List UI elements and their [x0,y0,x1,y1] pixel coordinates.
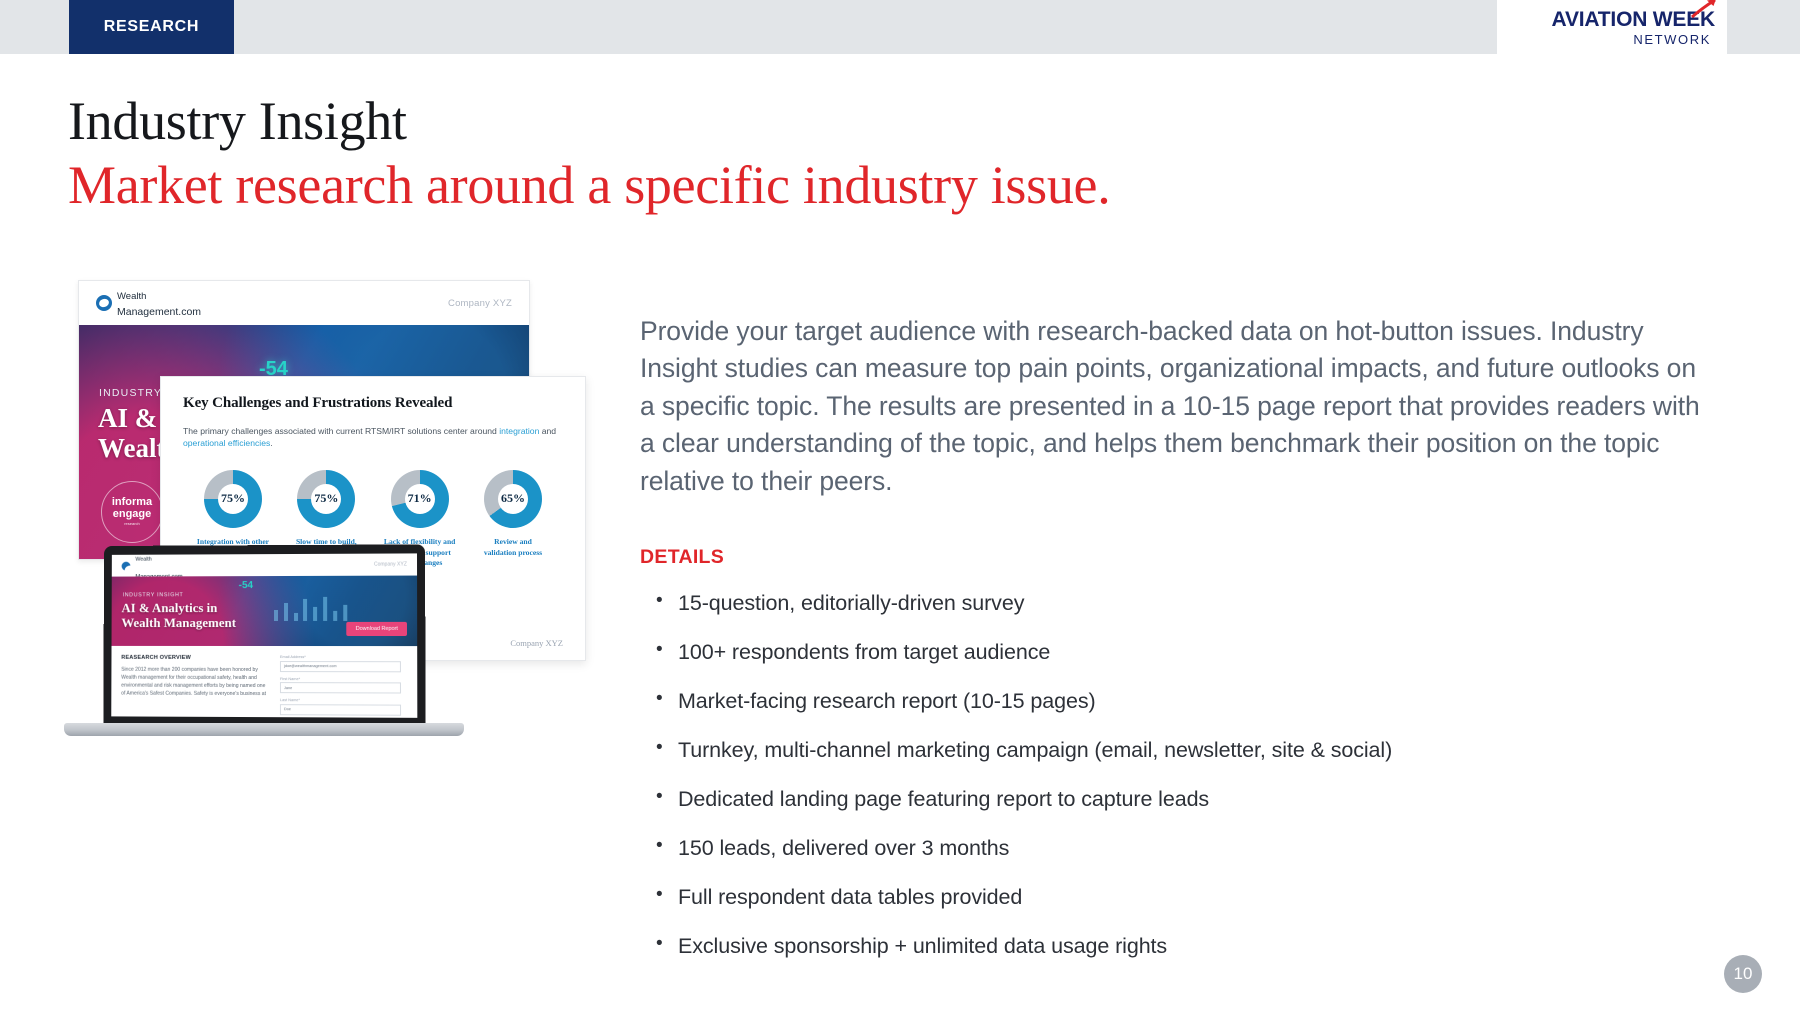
wealthmanagement-logo-line2: Management.com [117,306,201,318]
landing-page-header: Wealth Management.com Company XYZ [112,553,417,576]
lead-capture-form[interactable]: Email Address*jdoe@wealthmanagement.comF… [280,655,401,718]
donut-caption: Review andvalidation process [467,537,559,558]
section-tab-label: RESEARCH [104,18,199,36]
wealthmanagement-logo-line1: Wealth [117,291,146,302]
form-field-input[interactable]: Jane [280,682,401,693]
informa-engage-badge: informa engage research [101,481,163,543]
page-title-primary: Industry Insight [68,92,1110,150]
donut-center: 65% [498,484,528,514]
form-field-input[interactable]: jdoe@wealthmanagement.com [280,661,401,672]
research-overview-text: Since 2012 more than 200 companies have … [121,667,270,699]
landing-hero-ticker-number: -54 [239,580,253,591]
informa-engage-line3: research [124,522,140,526]
details-bullet-item: Full respondent data tables provided [640,885,1700,910]
key-challenges-subtitle-part-a: The primary challenges associated with c… [183,426,499,436]
research-overview-block: REASEARCH OVERVIEW Since 2012 more than … [121,655,270,718]
key-challenges-title: Key Challenges and Frustrations Revealed [183,395,563,412]
landing-company-label: Company XYZ [374,561,407,567]
details-bullet-item: Dedicated landing page featuring report … [640,787,1700,812]
key-challenges-subtitle-highlight-1: integration [499,426,539,436]
landing-hero-title-line1: AI & Analytics in [121,600,217,615]
details-heading: DETAILS [640,546,1700,569]
donut-ring: 65% [484,470,542,528]
report-cover-company: Company XYZ [448,298,512,309]
form-field-label: Last Name* [280,698,401,702]
brand-logo-wordmark: AVIATION WEEK [1552,9,1715,30]
download-report-button[interactable]: Download Report [347,622,407,636]
donut-ring: 75% [204,470,262,528]
content-column: Provide your target audience with resear… [640,286,1700,983]
landing-wealthmanagement-mark-icon [122,561,131,570]
donut-value-label: 71% [408,491,432,506]
donut-value-label: 75% [221,491,245,506]
details-bullet-list: 15-question, editorially-driven survey10… [640,591,1700,959]
donut-ring: 75% [297,470,355,528]
landing-hero-kicker: INDUSTRY INSIGHT [122,592,183,598]
landing-hero-bars-icon [269,596,392,621]
product-artwork: Wealth Management.com Company XYZ -54 IN… [60,250,620,890]
details-bullet-item: Market-facing research report (10-15 pag… [640,689,1700,714]
form-field-label: Email Address* [280,655,401,659]
donut-center: 71% [405,484,435,514]
intro-paragraph: Provide your target audience with resear… [640,313,1700,501]
donut-value-label: 75% [314,491,338,506]
donut-ring: 71% [391,470,449,528]
landing-logo-line1: Wealth [135,557,151,563]
landing-hero: -54 INDUSTRY INSIGHT AI & Analytics in W… [112,576,418,647]
section-tab-research[interactable]: RESEARCH [69,0,234,54]
laptop-base [64,723,464,736]
details-bullet-item: 100+ respondents from target audience [640,640,1700,665]
laptop-mockup: Wealth Management.com Company XYZ -54 IN [64,545,464,760]
key-challenges-subtitle-part-c: . [270,438,272,448]
landing-hero-title-line2: Wealth Management [121,615,236,630]
page-title-secondary: Market research around a specific indust… [68,156,1110,214]
laptop-screen: Wealth Management.com Company XYZ -54 IN [111,553,417,717]
brand-logo: AVIATION WEEK NETWORK [1497,0,1727,54]
informa-engage-line2: engage [113,509,152,521]
research-overview-title: REASEARCH OVERVIEW [121,655,270,661]
details-bullet-item: 150 leads, delivered over 3 months [640,836,1700,861]
laptop-bezel: Wealth Management.com Company XYZ -54 IN [103,544,425,728]
page-title: Industry Insight Market research around … [68,92,1110,215]
brand-logo-sub-text: NETWORK [1633,33,1711,46]
key-challenges-subtitle-highlight-2: operational efficiencies [183,438,270,448]
donut-center: 75% [218,484,248,514]
swoosh-arrow-icon [1691,0,1717,18]
form-field[interactable]: Email Address*jdoe@wealthmanagement.com [280,655,401,672]
form-field[interactable]: First Name*Jane [280,677,401,694]
donut-center: 75% [311,484,341,514]
wealthmanagement-mark-icon [96,295,112,311]
donut-chart: 65%Review andvalidation process [467,470,559,569]
form-field-input[interactable]: Doe [280,704,401,716]
landing-body: REASEARCH OVERVIEW Since 2012 more than … [111,646,417,718]
report-cover-header: Wealth Management.com Company XYZ [79,281,529,325]
key-challenges-subtitle-part-b: and [539,426,556,436]
page-number-badge: 10 [1724,955,1762,993]
wealthmanagement-logo: Wealth Management.com [96,287,201,320]
form-field[interactable]: Last Name*Doe [280,698,401,715]
details-bullet-item: Turnkey, multi-channel marketing campaig… [640,738,1700,763]
landing-hero-title: AI & Analytics in Wealth Management [121,601,236,631]
key-challenges-footer-company: Company XYZ [510,638,563,648]
details-bullet-item: Exclusive sponsorship + unlimited data u… [640,934,1700,959]
details-bullet-item: 15-question, editorially-driven survey [640,591,1700,616]
header-bar: RESEARCH AVIATION WEEK NETWORK [0,0,1800,54]
key-challenges-subtitle: The primary challenges associated with c… [183,425,563,450]
donut-value-label: 65% [501,491,525,506]
form-field-label: First Name* [280,677,401,681]
